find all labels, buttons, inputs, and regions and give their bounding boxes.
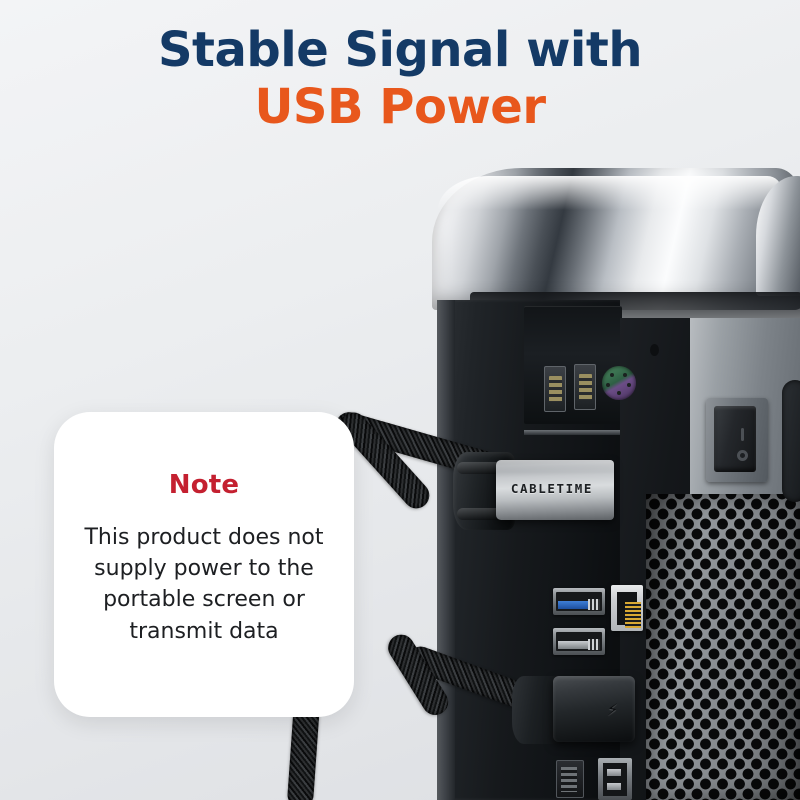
ethernet-port <box>611 585 643 631</box>
usb2-port <box>553 628 605 655</box>
lightning-bolt-icon: ⚡ <box>607 701 619 718</box>
usb3-port-tongue <box>558 601 589 609</box>
panel-screw-hole <box>650 344 659 356</box>
displayport-port <box>556 760 584 798</box>
usb3-port-pins <box>588 599 600 610</box>
connector-brand-label: CABLETIME <box>496 481 608 496</box>
ps2-pin <box>606 383 610 387</box>
usb2-port-pins <box>588 639 600 650</box>
power-off-marking-icon <box>737 450 748 461</box>
tower-seam <box>437 300 455 800</box>
io-panel-divider <box>524 430 624 435</box>
ethernet-gold-contacts <box>625 602 641 628</box>
chrome-top-shell <box>432 168 800 310</box>
legacy-usb-port-2 <box>574 364 596 410</box>
usb2-port-tongue <box>558 641 589 649</box>
usb-bottom-tongue-upper <box>607 769 621 776</box>
connector-sheen <box>496 460 614 472</box>
usb-connector-upper: CABLETIME <box>496 460 614 520</box>
note-body-text: This product does not supply power to th… <box>54 522 354 647</box>
usb2-port-cavity <box>556 632 602 651</box>
usb3-port <box>553 588 605 615</box>
expansion-slot-opening <box>782 380 800 502</box>
honeycomb-vent-mesh <box>646 494 800 800</box>
power-rocker-switch[interactable] <box>706 398 768 482</box>
legacy-usb-port-1 <box>544 366 566 412</box>
power-on-marking-icon <box>741 428 744 441</box>
tower-upper-io-recess <box>524 306 622 424</box>
ethernet-port-throat <box>617 592 637 625</box>
ps2-pin <box>623 373 627 377</box>
ps2-combo-port <box>602 366 636 400</box>
usb-bottom-port <box>598 758 632 800</box>
usb-connector-lower: ⚡ <box>553 676 635 742</box>
note-title: Note <box>169 470 240 500</box>
note-card: Note This product does not supply power … <box>54 412 354 717</box>
product-marketing-image: ⚡ CABLETIME Stable Signal with USB Power… <box>0 0 800 800</box>
usb-bottom-tongue-lower <box>607 783 621 790</box>
ps2-pin <box>610 373 614 377</box>
usb3-port-cavity <box>556 592 602 611</box>
ps2-pin <box>617 391 621 395</box>
rocker-paddle <box>714 406 756 472</box>
ps2-pin <box>627 383 631 387</box>
